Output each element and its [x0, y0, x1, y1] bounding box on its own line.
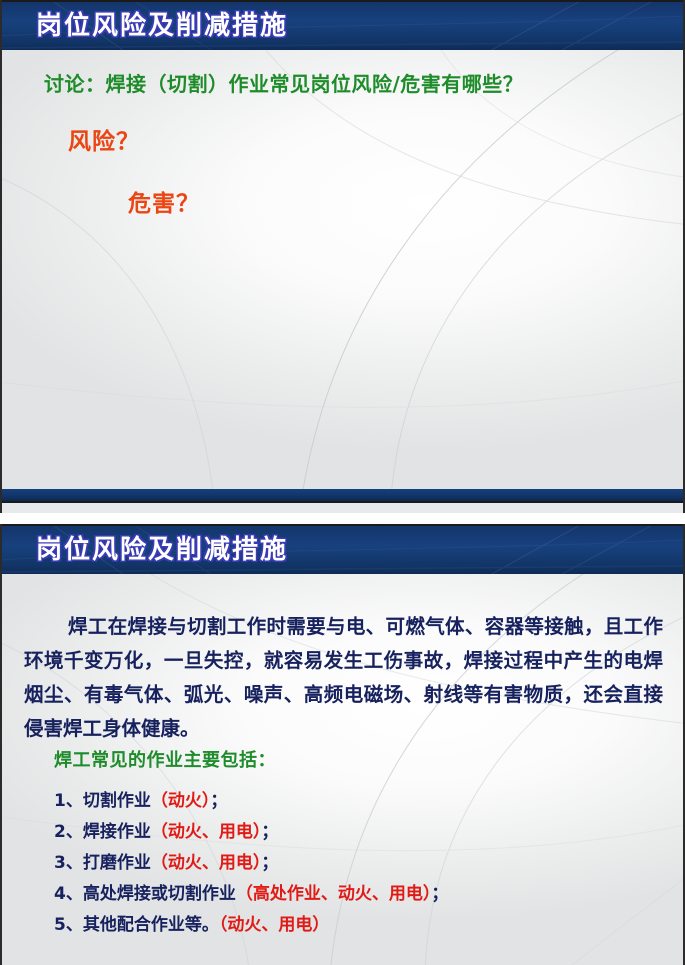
list-item-tail: ； — [431, 884, 448, 904]
list-item-text: 焊接作业 — [83, 822, 151, 842]
slide-2-title: 岗位风险及削减措施 — [0, 526, 685, 574]
background-arc-decoration — [0, 50, 685, 503]
list-item: 1、切割作业（动火）； — [54, 786, 448, 817]
slide-1-footer-bar — [0, 489, 685, 503]
slide-1-title-bar: 岗位风险及削减措施 — [0, 0, 685, 50]
list-item: 3、打磨作业（动火、用电）； — [54, 848, 448, 879]
list-item-tag: （动火、用电） — [151, 822, 262, 842]
list-item-number: 1、 — [54, 791, 83, 811]
list-item: 5、其他配合作业等。（动火、用电） — [54, 910, 448, 941]
risk-keyword: 风险？ — [68, 122, 140, 156]
slide-2: 岗位风险及削减措施 焊工在焊接与切割工作时需要与电、可燃气体、容器等接触，且工作… — [0, 524, 685, 965]
list-item-number: 3、 — [54, 853, 83, 873]
intro-paragraph: 焊工在焊接与切割工作时需要与电、可燃气体、容器等接触，且工作环境千变万化，一旦失… — [24, 610, 663, 746]
list-item-tag: （动火、用电） — [219, 915, 330, 935]
list-item-number: 2、 — [54, 822, 83, 842]
list-item-tag: （动火、用电） — [151, 853, 262, 873]
sub-heading: 焊工常见的作业主要包括： — [54, 746, 276, 772]
slide-2-title-bar: 岗位风险及削减措施 — [0, 524, 685, 574]
list-item-text: 高处焊接或切割作业 — [83, 884, 236, 904]
slide-1-title: 岗位风险及削减措施 — [0, 2, 685, 50]
list-item-tag: （动火） — [151, 791, 211, 811]
operation-list: 1、切割作业（动火）； 2、焊接作业（动火、用电）； 3、打磨作业（动火、用电）… — [54, 786, 448, 941]
list-item-text: 打磨作业 — [83, 853, 151, 873]
list-item-tail: ； — [210, 791, 227, 811]
list-item: 4、高处焊接或切割作业（高处作业、动火、用电）； — [54, 879, 448, 910]
list-item-number: 4、 — [54, 884, 83, 904]
list-item-tag: （高处作业、动火、用电） — [236, 884, 432, 904]
slide-deck: 岗位风险及削减措施 讨论：焊接（切割）作业常见岗位风险/危害有哪些？ 风险？ 危… — [0, 0, 685, 965]
slide-1: 岗位风险及削减措施 讨论：焊接（切割）作业常见岗位风险/危害有哪些？ 风险？ 危… — [0, 0, 685, 513]
slide-2-body: 焊工在焊接与切割工作时需要与电、可燃气体、容器等接触，且工作环境千变万化，一旦失… — [0, 574, 685, 965]
list-item-tail: ； — [261, 853, 278, 873]
slide-1-body: 讨论：焊接（切割）作业常见岗位风险/危害有哪些？ 风险？ 危害？ — [0, 50, 685, 503]
discussion-prompt: 讨论：焊接（切割）作业常见岗位风险/危害有哪些？ — [44, 68, 523, 97]
harm-keyword: 危害？ — [128, 184, 200, 218]
list-item-tail: ； — [261, 822, 278, 842]
list-item-number: 5、 — [54, 915, 83, 935]
list-item-text: 切割作业 — [83, 791, 151, 811]
list-item-text: 其他配合作业等。 — [83, 915, 219, 935]
list-item: 2、焊接作业（动火、用电）； — [54, 817, 448, 848]
